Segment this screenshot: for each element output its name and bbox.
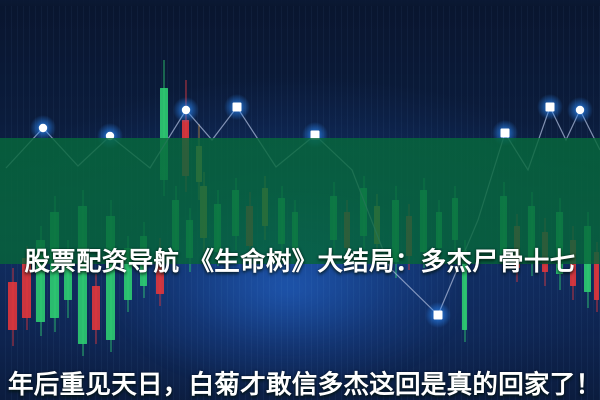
trend-node-square [546, 103, 555, 112]
trend-node-circle [576, 106, 584, 114]
trend-node-circle [182, 106, 190, 114]
trend-node-circle [39, 124, 47, 132]
headline-line-2: 年后重见天日，白菊才敢信多杰这回是真的回家了！ [8, 365, 592, 400]
banner-image: 股票配资导航 《生命树》大结局：多杰尸骨十七 年后重见天日，白菊才敢信多杰这回是… [0, 0, 600, 400]
trend-node-square [233, 103, 242, 112]
trend-node-square [501, 129, 510, 138]
headline-line-1: 股票配资导航 《生命树》大结局：多杰尸骨十七 [8, 242, 592, 283]
headline-text: 股票配资导航 《生命树》大结局：多杰尸骨十七 年后重见天日，白菊才敢信多杰这回是… [0, 160, 600, 400]
